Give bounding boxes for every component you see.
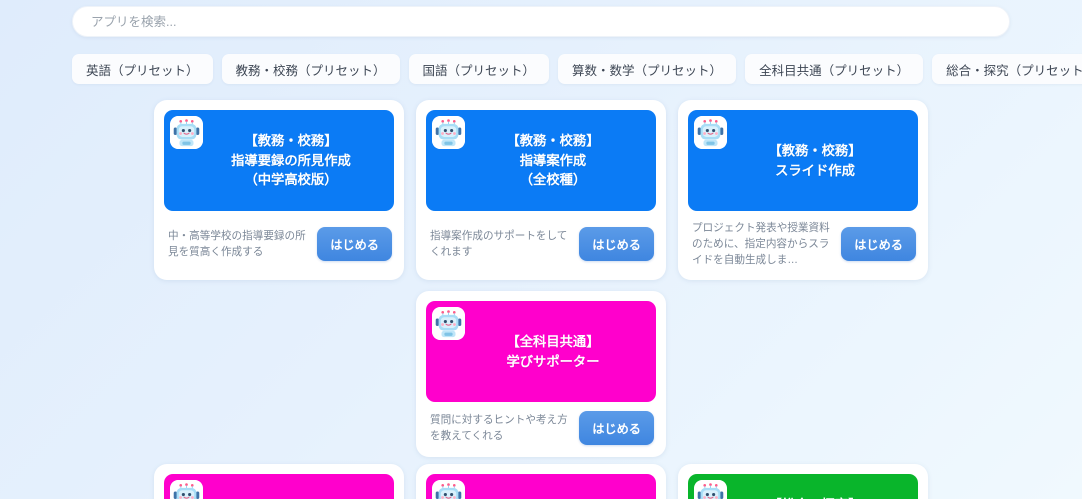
app-card-description: 中・高等学校の指導要録の所見を質高く作成する xyxy=(168,228,308,260)
app-card[interactable]: 【教務・校務】 指導案作成 （全校種）指導案作成のサポートをしてくれますはじめる xyxy=(416,100,666,280)
robot-icon xyxy=(432,480,465,499)
app-card-header: 【全科目共通】 ディスカッション xyxy=(164,474,394,499)
search-input[interactable] xyxy=(91,15,991,29)
filter-chip[interactable]: 算数・数学（プリセット） xyxy=(558,54,736,84)
app-card-description: 指導案作成のサポートをしてくれます xyxy=(430,228,570,260)
app-card-title: 【全科目共通】 学びサポーター xyxy=(482,332,599,371)
app-card[interactable]: 【全科目共通】 授業振り返り授業後に学びを深めるために生徒自身が学習を振り返るた… xyxy=(416,464,666,499)
app-card-title: 【教務・校務】 スライド作成 xyxy=(744,141,861,180)
filter-chip[interactable]: 教務・校務（プリセット） xyxy=(222,54,400,84)
app-card-header: 【全科目共通】 学びサポーター xyxy=(426,301,656,402)
app-card-footer: プロジェクト発表や授業資料のために、指定内容からスライドを自動生成しま…はじめる xyxy=(688,211,918,270)
search-row xyxy=(0,0,1082,37)
start-button[interactable]: はじめる xyxy=(841,227,916,261)
filter-chip-row: 英語（プリセット）教務・校務（プリセット）国語（プリセット）算数・数学（プリセッ… xyxy=(0,54,1082,84)
robot-icon xyxy=(694,480,727,499)
app-card[interactable]: 【教務・校務】 スライド作成プロジェクト発表や授業資料のために、指定内容からスラ… xyxy=(678,100,928,280)
robot-icon xyxy=(432,307,465,340)
filter-chip[interactable]: 総合・探究（プリセット） xyxy=(932,54,1082,84)
filter-chip[interactable]: 国語（プリセット） xyxy=(409,54,550,84)
app-card-description: プロジェクト発表や授業資料のために、指定内容からスライドを自動生成しま… xyxy=(692,220,832,268)
app-card-header: 【総合・探究】 探究プロジェクト 相談 xyxy=(688,474,918,499)
app-card-header: 【教務・校務】 スライド作成 xyxy=(688,110,918,211)
search-box[interactable] xyxy=(72,6,1010,37)
app-card-header: 【教務・校務】 指導案作成 （全校種） xyxy=(426,110,656,211)
filter-chip[interactable]: 英語（プリセット） xyxy=(72,54,213,84)
app-card-grid-row-1: 【教務・校務】 指導要録の所見作成 （中学高校版）中・高等学校の指導要録の所見を… xyxy=(0,100,1082,462)
robot-icon xyxy=(170,116,203,149)
app-card-header: 【教務・校務】 指導要録の所見作成 （中学高校版） xyxy=(164,110,394,211)
robot-icon xyxy=(170,480,203,499)
filter-chip[interactable]: 全科目共通（プリセット） xyxy=(745,54,923,84)
robot-icon xyxy=(694,116,727,149)
app-card-title: 【総合・探究】 探究プロジェクト 相談 xyxy=(738,495,868,499)
app-card[interactable]: 【教務・校務】 指導要録の所見作成 （中学高校版）中・高等学校の指導要録の所見を… xyxy=(154,100,404,280)
start-button[interactable]: はじめる xyxy=(317,227,392,261)
app-card-description: 質問に対するヒントや考え方を教えてくれる xyxy=(430,412,570,444)
app-card-footer: 指導案作成のサポートをしてくれますはじめる xyxy=(426,211,656,270)
app-card-header: 【全科目共通】 授業振り返り xyxy=(426,474,656,499)
app-card-title: 【教務・校務】 指導案作成 （全校種） xyxy=(482,131,599,190)
app-card-title: 【教務・校務】 指導要録の所見作成 （中学高校版） xyxy=(207,131,351,190)
app-card[interactable]: 【全科目共通】 ディスカッションテーマを決めてディスカッションをするアプリはじめ… xyxy=(154,464,404,499)
app-card-footer: 質問に対するヒントや考え方を教えてくれるはじめる xyxy=(426,402,656,447)
app-card[interactable]: 【総合・探究】 探究プロジェクト 相談子どもたちがプロジェクトをするときに相談に… xyxy=(678,464,928,499)
app-card-grid-row-2: 【全科目共通】 ディスカッションテーマを決めてディスカッションをするアプリはじめ… xyxy=(0,464,1082,499)
app-card-footer: 中・高等学校の指導要録の所見を質高く作成するはじめる xyxy=(164,211,394,270)
robot-icon xyxy=(432,116,465,149)
app-card[interactable]: 【全科目共通】 学びサポーター質問に対するヒントや考え方を教えてくれるはじめる xyxy=(416,291,666,457)
start-button[interactable]: はじめる xyxy=(579,227,654,261)
start-button[interactable]: はじめる xyxy=(579,411,654,445)
